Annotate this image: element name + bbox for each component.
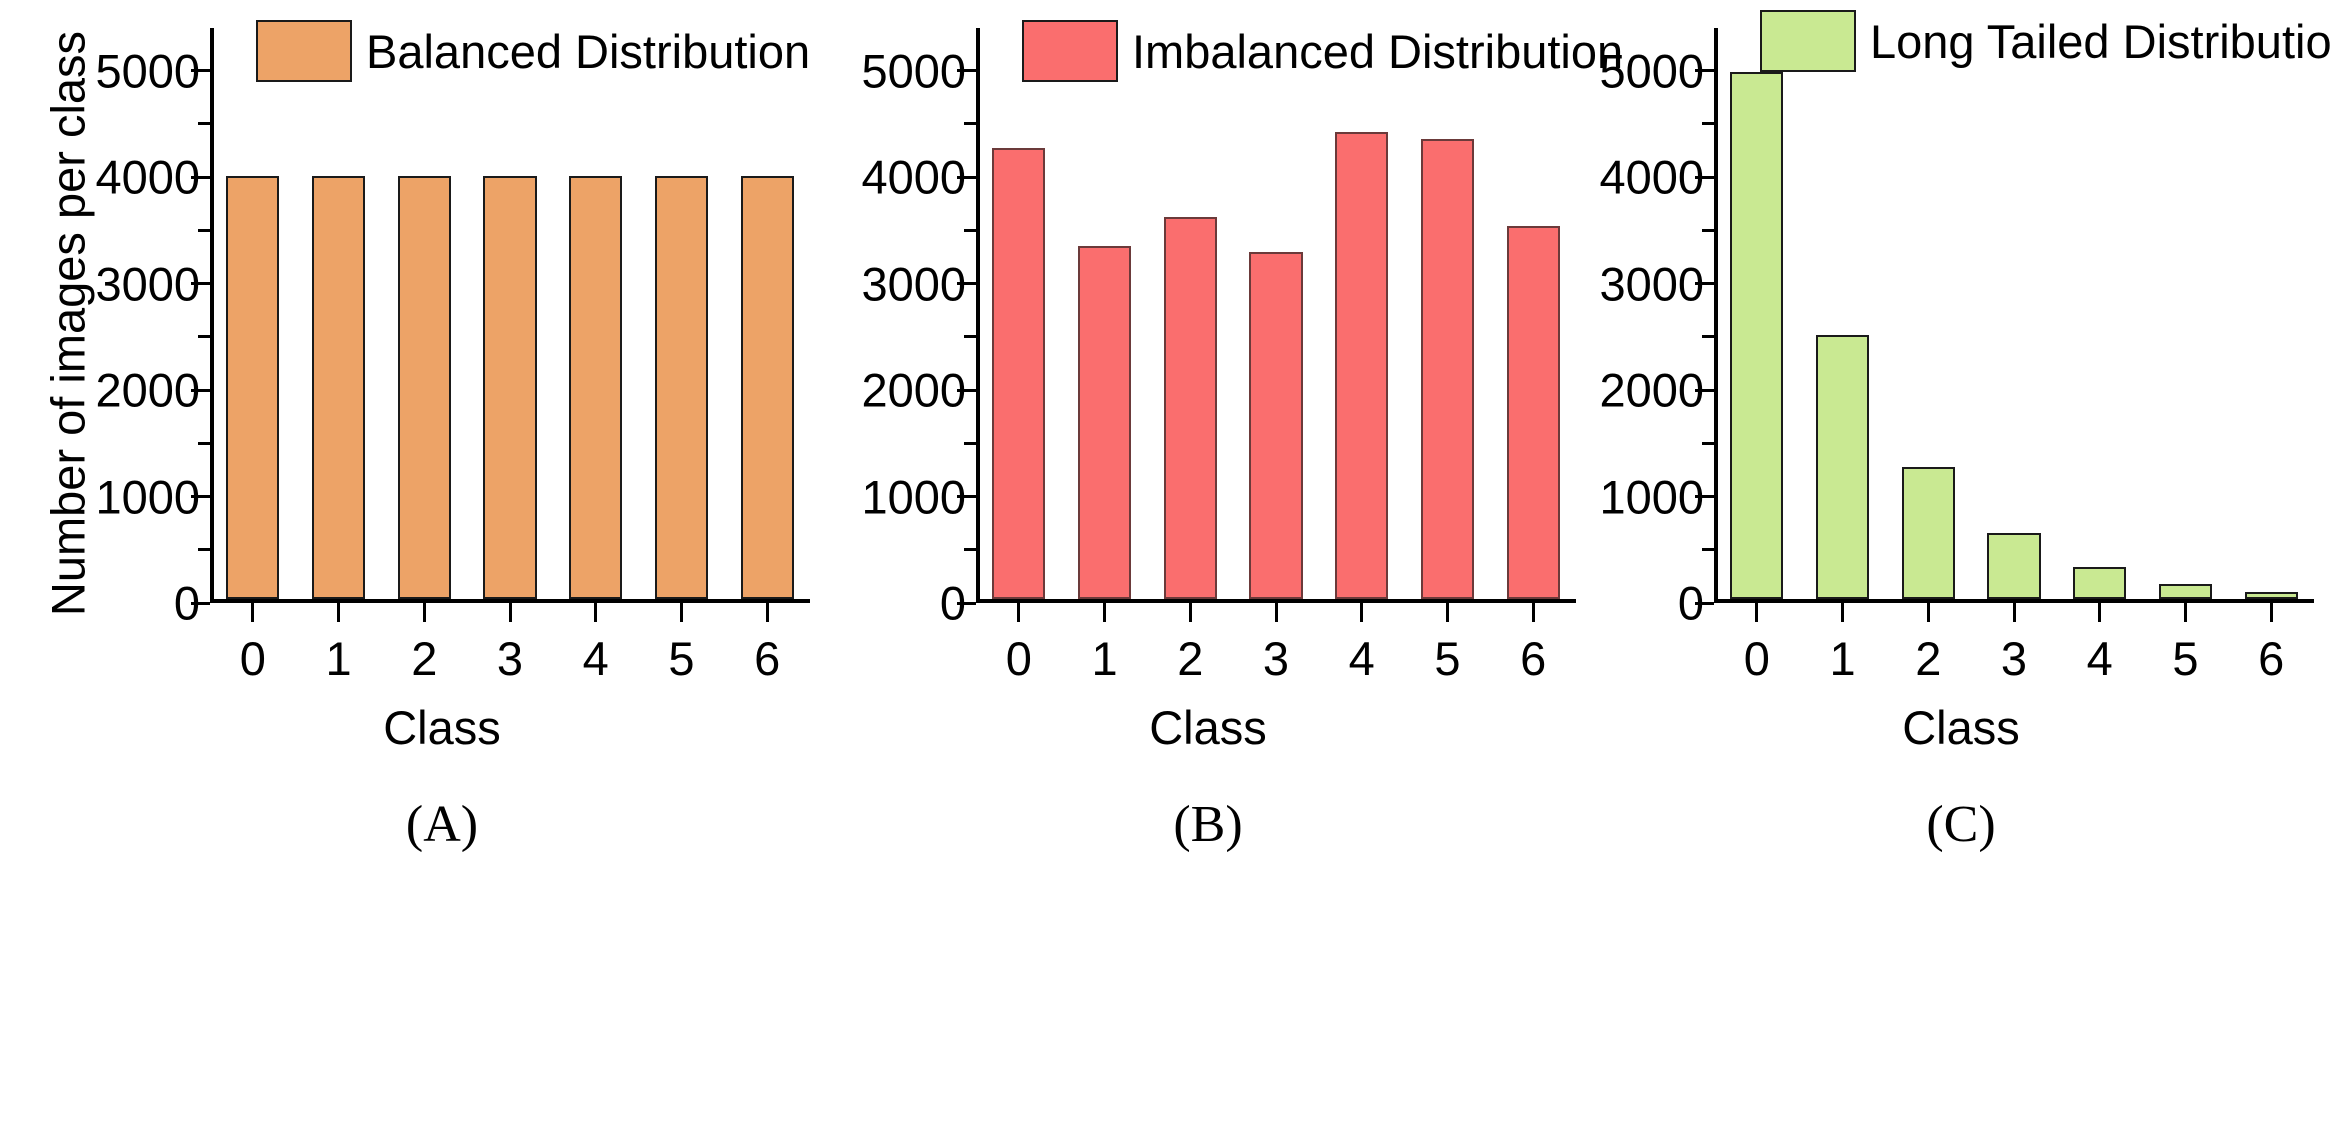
x-axis-title-c: Class bbox=[1588, 700, 2334, 755]
bar bbox=[398, 176, 451, 599]
y-tick-label: 0 bbox=[174, 580, 200, 627]
plot-area-c: Long Tailed Distribution 010002000300040… bbox=[1714, 28, 2314, 603]
x-tick bbox=[251, 603, 254, 622]
x-tick bbox=[1532, 603, 1535, 622]
x-tick bbox=[423, 603, 426, 622]
panel-b: Imbalanced Distribution 0100020003000400… bbox=[828, 0, 1588, 1122]
y-tick-minor bbox=[198, 335, 210, 338]
bar bbox=[1902, 467, 1955, 599]
y-tick-label: 2000 bbox=[1599, 367, 1704, 414]
y-tick-minor bbox=[964, 442, 976, 445]
legend-label-c: Long Tailed Distribution bbox=[1870, 18, 2334, 65]
x-tick-label: 1 bbox=[325, 635, 351, 682]
bar bbox=[741, 176, 794, 599]
legend-c: Long Tailed Distribution bbox=[1760, 10, 2334, 72]
bar bbox=[2245, 592, 2298, 599]
x-tick bbox=[509, 603, 512, 622]
bar bbox=[1078, 246, 1131, 599]
x-tick bbox=[1189, 603, 1192, 622]
y-tick-label: 4000 bbox=[1599, 154, 1704, 201]
x-tick-label: 2 bbox=[411, 635, 437, 682]
y-tick-label: 4000 bbox=[861, 154, 966, 201]
y-tick-minor bbox=[198, 442, 210, 445]
x-tick bbox=[1275, 603, 1278, 622]
y-tick-minor bbox=[964, 548, 976, 551]
x-tick bbox=[2098, 603, 2101, 622]
panel-caption-b: (B) bbox=[828, 795, 1588, 854]
bar bbox=[1335, 132, 1388, 599]
panel-c: Long Tailed Distribution 010002000300040… bbox=[1588, 0, 2334, 1122]
legend-a: Balanced Distribution bbox=[256, 20, 810, 82]
bar bbox=[312, 176, 365, 599]
x-tick bbox=[1103, 603, 1106, 622]
y-tick-label: 4000 bbox=[95, 154, 200, 201]
legend-label-a: Balanced Distribution bbox=[366, 28, 810, 75]
bar bbox=[226, 176, 279, 599]
figure-canvas: Number of images per class Balanced Dist… bbox=[0, 0, 2334, 1122]
x-tick-label: 6 bbox=[2258, 635, 2284, 682]
bar bbox=[1730, 72, 1783, 599]
bar bbox=[1421, 139, 1474, 599]
x-axis-title-b: Class bbox=[828, 700, 1588, 755]
x-tick-label: 6 bbox=[1520, 635, 1546, 682]
bar bbox=[1507, 226, 1560, 599]
x-tick-label: 1 bbox=[1091, 635, 1117, 682]
x-tick-label: 1 bbox=[1829, 635, 1855, 682]
x-tick bbox=[1446, 603, 1449, 622]
x-tick-label: 5 bbox=[668, 635, 694, 682]
y-tick-label: 3000 bbox=[861, 260, 966, 307]
x-tick-label: 4 bbox=[1349, 635, 1375, 682]
y-tick-minor bbox=[1702, 335, 1714, 338]
x-tick bbox=[2184, 603, 2187, 622]
bar bbox=[2073, 567, 2126, 599]
x-tick-label: 3 bbox=[1263, 635, 1289, 682]
y-tick-minor bbox=[1702, 229, 1714, 232]
x-tick-label: 2 bbox=[1915, 635, 1941, 682]
x-tick bbox=[1841, 603, 1844, 622]
y-tick-minor bbox=[1702, 122, 1714, 125]
x-tick-label: 4 bbox=[2087, 635, 2113, 682]
x-tick-label: 2 bbox=[1177, 635, 1203, 682]
y-tick-label: 2000 bbox=[95, 367, 200, 414]
y-tick-minor bbox=[964, 335, 976, 338]
y-tick-label: 3000 bbox=[95, 260, 200, 307]
y-tick-minor bbox=[1702, 548, 1714, 551]
bar bbox=[569, 176, 622, 599]
y-tick-label: 1000 bbox=[861, 473, 966, 520]
x-tick-label: 5 bbox=[2172, 635, 2198, 682]
legend-swatch-a bbox=[256, 20, 352, 82]
y-tick-label: 1000 bbox=[95, 473, 200, 520]
x-tick bbox=[2013, 603, 2016, 622]
y-tick-minor bbox=[198, 229, 210, 232]
legend-swatch-c bbox=[1760, 10, 1856, 72]
legend-b: Imbalanced Distribution bbox=[1022, 20, 1623, 82]
bar bbox=[655, 176, 708, 599]
y-tick-minor bbox=[964, 229, 976, 232]
plot-area-b: Imbalanced Distribution 0100020003000400… bbox=[976, 28, 1576, 603]
x-axis-title-a: Class bbox=[62, 700, 822, 755]
plot-area-a: Balanced Distribution 010002000300040005… bbox=[210, 28, 810, 603]
bars-b bbox=[976, 28, 1576, 599]
y-tick-label: 5000 bbox=[95, 47, 200, 94]
x-tick bbox=[1755, 603, 1758, 622]
panel-caption-a: (A) bbox=[62, 795, 822, 854]
x-tick-label: 4 bbox=[583, 635, 609, 682]
bars-a bbox=[210, 28, 810, 599]
bar bbox=[1164, 217, 1217, 599]
x-tick-label: 6 bbox=[754, 635, 780, 682]
bar bbox=[2159, 584, 2212, 599]
x-tick bbox=[2270, 603, 2273, 622]
y-tick-label: 1000 bbox=[1599, 473, 1704, 520]
x-tick bbox=[594, 603, 597, 622]
bar bbox=[1816, 335, 1869, 599]
x-tick bbox=[1927, 603, 1930, 622]
x-tick-label: 3 bbox=[2001, 635, 2027, 682]
x-tick-label: 0 bbox=[1744, 635, 1770, 682]
y-tick-label: 2000 bbox=[861, 367, 966, 414]
x-tick-label: 0 bbox=[1006, 635, 1032, 682]
y-tick-minor bbox=[964, 122, 976, 125]
legend-swatch-b bbox=[1022, 20, 1118, 82]
y-tick-label: 5000 bbox=[861, 47, 966, 94]
y-tick-minor bbox=[198, 548, 210, 551]
x-tick bbox=[337, 603, 340, 622]
y-tick-label: 0 bbox=[1678, 580, 1704, 627]
x-tick bbox=[1360, 603, 1363, 622]
y-tick-label: 0 bbox=[940, 580, 966, 627]
y-tick-label: 5000 bbox=[1599, 47, 1704, 94]
x-tick bbox=[680, 603, 683, 622]
legend-label-b: Imbalanced Distribution bbox=[1132, 28, 1623, 75]
x-tick-label: 5 bbox=[1434, 635, 1460, 682]
y-tick-label: 3000 bbox=[1599, 260, 1704, 307]
x-tick bbox=[1017, 603, 1020, 622]
panel-a: Balanced Distribution 010002000300040005… bbox=[62, 0, 822, 1122]
x-tick-label: 3 bbox=[497, 635, 523, 682]
bar bbox=[992, 148, 1045, 600]
x-tick bbox=[766, 603, 769, 622]
bar bbox=[483, 176, 536, 599]
bar bbox=[1249, 252, 1302, 599]
x-tick-label: 0 bbox=[240, 635, 266, 682]
bars-c bbox=[1714, 28, 2314, 599]
y-tick-minor bbox=[198, 122, 210, 125]
panel-caption-c: (C) bbox=[1588, 795, 2334, 854]
y-tick-minor bbox=[1702, 442, 1714, 445]
bar bbox=[1987, 533, 2040, 599]
